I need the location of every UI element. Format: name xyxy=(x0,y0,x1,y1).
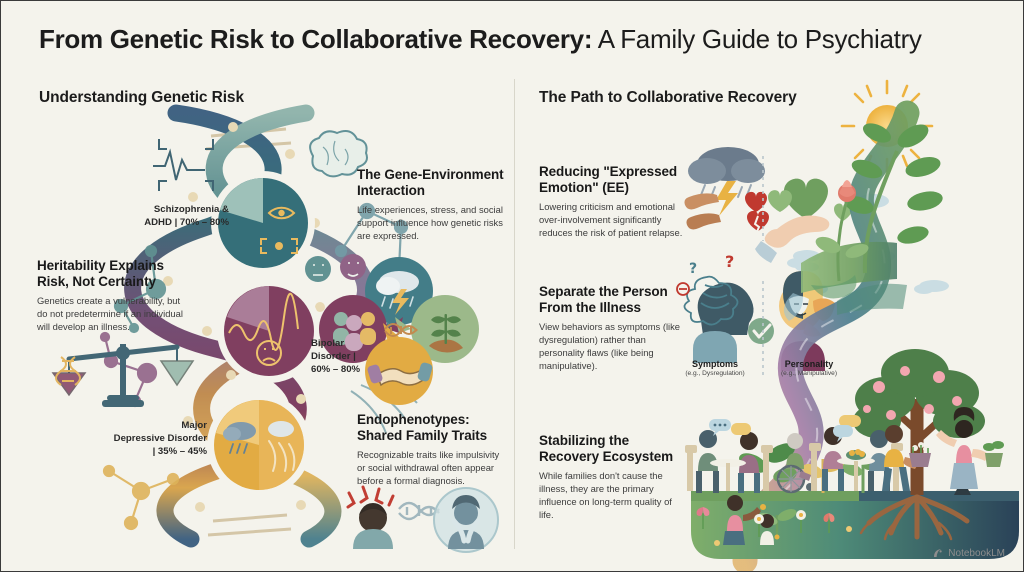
block-endophenotypes: Endophenotypes: Shared Family Traits Rec… xyxy=(357,412,509,488)
block-body: Genetics create a vulnerability, but do … xyxy=(37,295,189,334)
stat-line-2: ADHD | 70% – 80% xyxy=(89,217,229,230)
block-recovery-ecosystem: Stabilizing the Recovery Ecosystem While… xyxy=(539,433,685,522)
caption-personality: Personality (e.g., Manipulative) xyxy=(761,359,857,377)
column-divider xyxy=(514,79,515,549)
caption-label: Personality xyxy=(761,359,857,369)
caption-symptoms: Symptoms (e.g., Dysregulation) xyxy=(667,359,763,377)
stat-line-3: 60% – 80% xyxy=(311,364,431,377)
block-expressed-emotion: Reducing "Expressed Emotion" (EE) Loweri… xyxy=(539,164,691,240)
notebooklm-logo-icon xyxy=(932,547,944,559)
infographic-canvas: ? ? xyxy=(0,0,1024,572)
caption-label: Symptoms xyxy=(667,359,763,369)
block-body: View behaviors as symptoms (like dysregu… xyxy=(539,321,681,373)
stat-line-2: Disorder | xyxy=(311,351,431,364)
stat-major-depressive-disorder: Major Depressive Disorder | 35% – 45% xyxy=(61,420,207,459)
block-separate-person-illness: Separate the Person From the Illness Vie… xyxy=(539,284,681,373)
caption-sublabel: (e.g., Manipulative) xyxy=(761,370,857,377)
stat-line-1: Schizophrenia & xyxy=(89,204,229,217)
page-title-bold: From Genetic Risk to Collaborative Recov… xyxy=(39,24,592,54)
svg-text:?: ? xyxy=(725,252,734,271)
right-column-heading: The Path to Collaborative Recovery xyxy=(539,89,797,107)
svg-text:?: ? xyxy=(689,261,697,277)
stat-bipolar-disorder: Bipolar Disorder | 60% – 80% xyxy=(311,338,431,377)
block-body: Lowering criticism and emotional over-in… xyxy=(539,201,691,240)
stat-line-1: Major xyxy=(61,420,207,433)
left-column-heading: Understanding Genetic Risk xyxy=(39,89,244,107)
caption-sublabel: (e.g., Dysregulation) xyxy=(667,370,763,377)
block-title: The Gene-Environment Interaction xyxy=(357,167,505,200)
block-title: Separate the Person From the Illness xyxy=(539,284,681,317)
stat-schizophrenia-adhd: Schizophrenia & ADHD | 70% – 80% xyxy=(89,204,229,230)
stat-line-1: Bipolar xyxy=(311,338,431,351)
stat-line-3: | 35% – 45% xyxy=(61,446,207,459)
block-body: While families don't cause the illness, … xyxy=(539,470,685,522)
block-body: Recognizable traits like impulsivity or … xyxy=(357,449,509,488)
block-title: Stabilizing the Recovery Ecosystem xyxy=(539,433,685,466)
block-body: Life experiences, stress, and social sup… xyxy=(357,204,505,243)
page-title-regular: A Family Guide to Psychiatry xyxy=(592,24,921,54)
block-title: Endophenotypes: Shared Family Traits xyxy=(357,412,509,445)
block-gene-environment: The Gene-Environment Interaction Life ex… xyxy=(357,167,505,243)
block-heritability: Heritability Explains Risk, Not Certaint… xyxy=(37,258,189,334)
stat-line-2: Depressive Disorder xyxy=(61,433,207,446)
watermark-label: NotebookLM xyxy=(948,548,1005,559)
watermark: NotebookLM xyxy=(932,547,1005,559)
page-title: From Genetic Risk to Collaborative Recov… xyxy=(39,25,999,55)
block-title: Reducing "Expressed Emotion" (EE) xyxy=(539,164,691,197)
block-title: Heritability Explains Risk, Not Certaint… xyxy=(37,258,189,291)
